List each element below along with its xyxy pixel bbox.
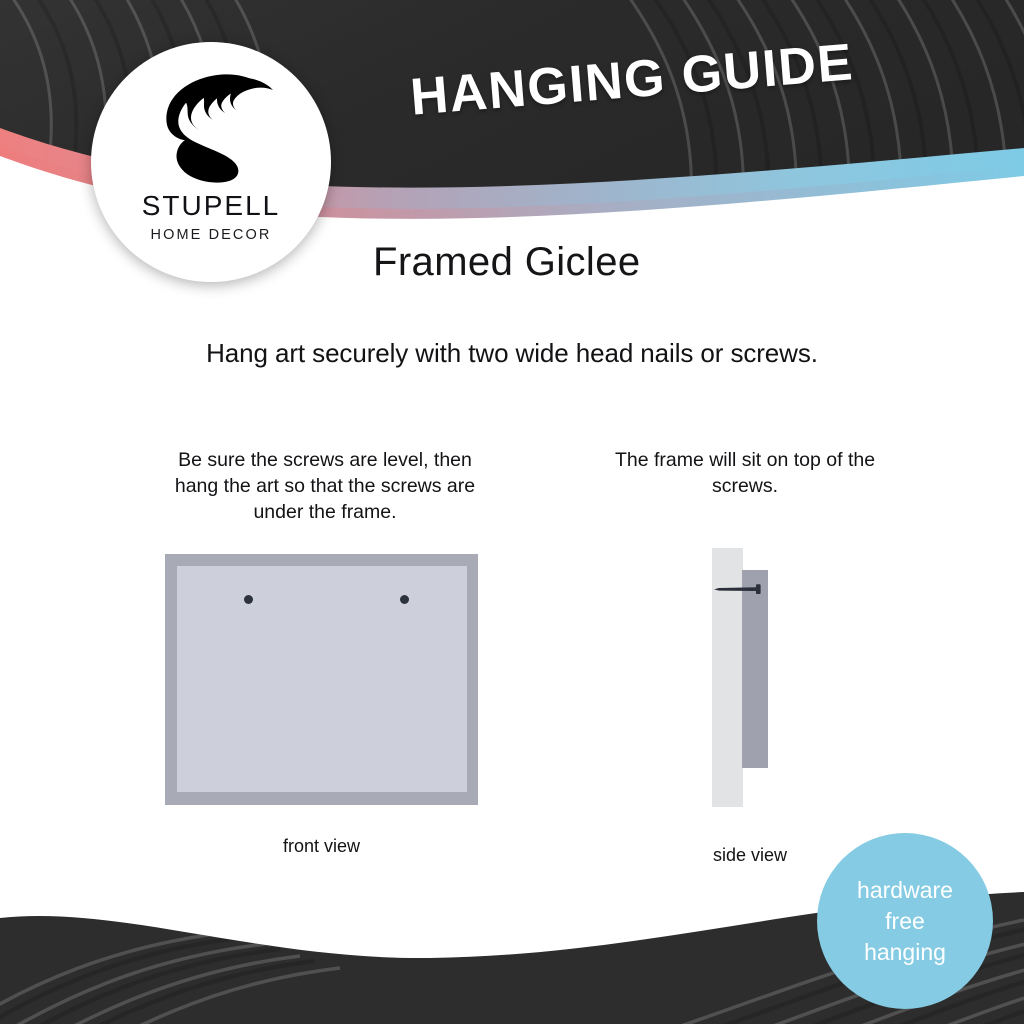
side-view-label: side view	[665, 845, 835, 866]
front-view-label: front view	[165, 836, 478, 857]
front-view-diagram	[165, 554, 478, 805]
side-view-diagram	[705, 545, 795, 810]
screw-icon	[713, 581, 769, 597]
front-view-caption: Be sure the screws are level, then hang …	[160, 447, 490, 525]
screw-dot-left-icon	[244, 595, 253, 604]
hardware-free-hanging-badge: hardware free hanging	[817, 833, 993, 1009]
side-view-frame	[742, 570, 768, 768]
front-view-mat	[177, 566, 467, 792]
screw-dot-right-icon	[400, 595, 409, 604]
stupell-swoosh-logo-icon	[145, 66, 277, 184]
brand-name: STUPELL	[142, 190, 281, 222]
brand-tagline: HOME DECOR	[151, 227, 272, 243]
side-view-caption: The frame will sit on top of the screws.	[600, 447, 890, 499]
badge-line-1: hardware	[857, 875, 953, 906]
main-instruction-text: Hang art securely with two wide head nai…	[0, 338, 1024, 369]
badge-line-3: hanging	[864, 937, 946, 968]
product-subtitle: Framed Giclee	[373, 240, 641, 285]
page-title: HANGING GUIDE	[370, 29, 893, 131]
badge-line-2: free	[885, 906, 925, 937]
hanging-guide-page: STUPELL HOME DECOR HANGING GUIDE Framed …	[0, 0, 1024, 1024]
brand-logo-badge: STUPELL HOME DECOR	[91, 42, 331, 282]
